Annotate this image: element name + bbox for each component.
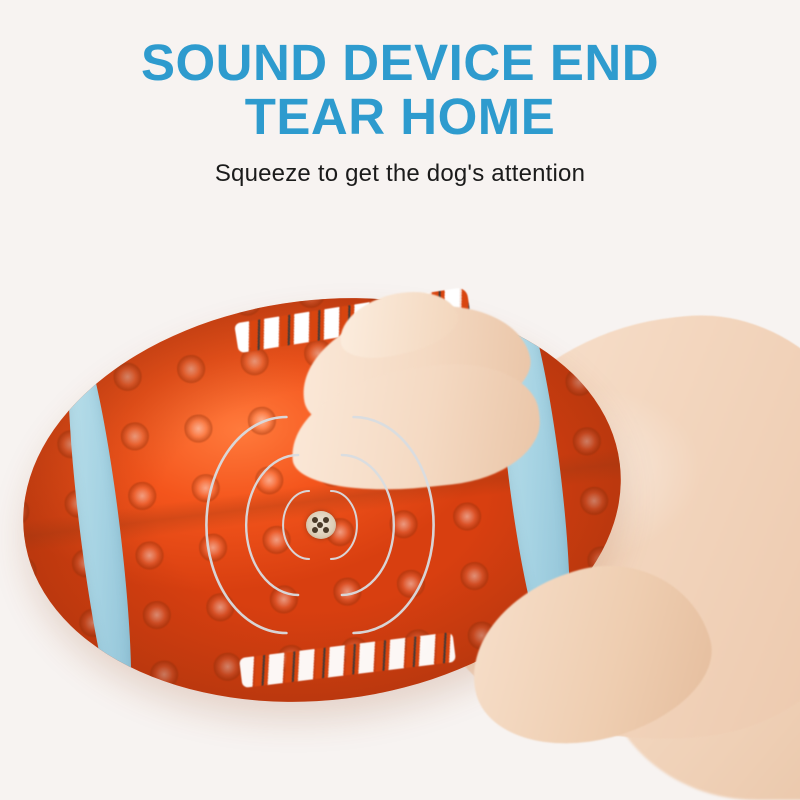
speaker-hole <box>323 517 329 523</box>
speaker-grille <box>306 511 336 539</box>
subtitle: Squeeze to get the dog's attention <box>0 160 800 188</box>
product-photo <box>0 200 800 800</box>
speaker-hole <box>312 527 318 533</box>
speaker-hole <box>317 522 323 528</box>
page-title: SOUND DEVICE END TEAR HOME <box>0 36 800 144</box>
speaker-hole <box>323 527 329 533</box>
product-feature-poster: SOUND DEVICE END TEAR HOME Squeeze to ge… <box>0 0 800 800</box>
